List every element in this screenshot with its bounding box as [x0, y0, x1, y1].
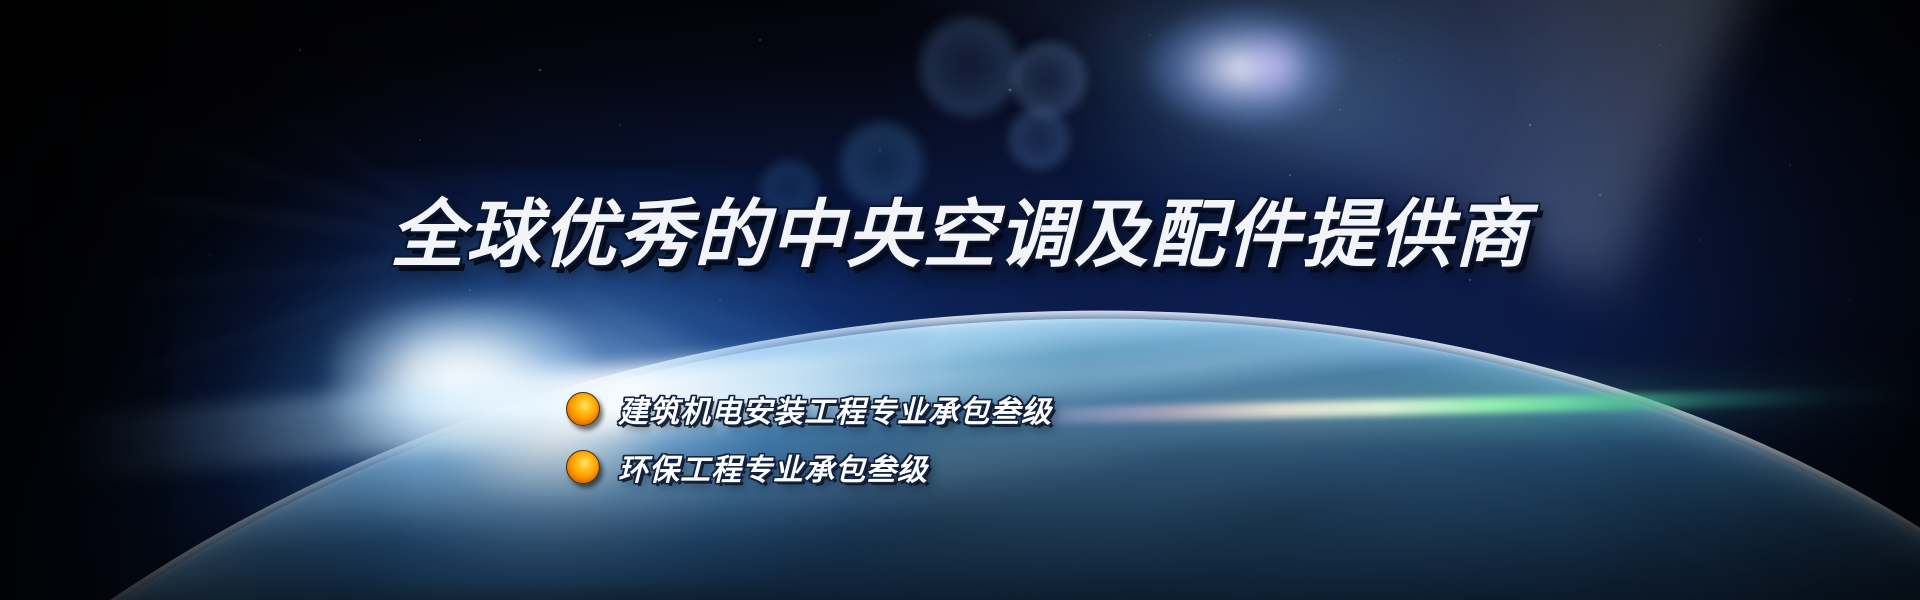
banner-headline: 全球优秀的中央空调及配件提供商 [0, 196, 1920, 274]
hero-banner: 全球优秀的中央空调及配件提供商 建筑机电安装工程专业承包叁级 环保工程专业承包叁… [0, 0, 1920, 600]
orange-dot-icon [566, 392, 600, 426]
banner-content: 全球优秀的中央空调及配件提供商 建筑机电安装工程专业承包叁级 环保工程专业承包叁… [0, 0, 1920, 600]
list-item: 建筑机电安装工程专业承包叁级 [566, 387, 1052, 431]
orange-dot-icon [566, 450, 600, 484]
list-item: 环保工程专业承包叁级 [566, 445, 1052, 489]
banner-bullet-list: 建筑机电安装工程专业承包叁级 环保工程专业承包叁级 [566, 387, 1052, 489]
bullet-text: 建筑机电安装工程专业承包叁级 [618, 387, 1052, 431]
bullet-text: 环保工程专业承包叁级 [618, 445, 928, 489]
